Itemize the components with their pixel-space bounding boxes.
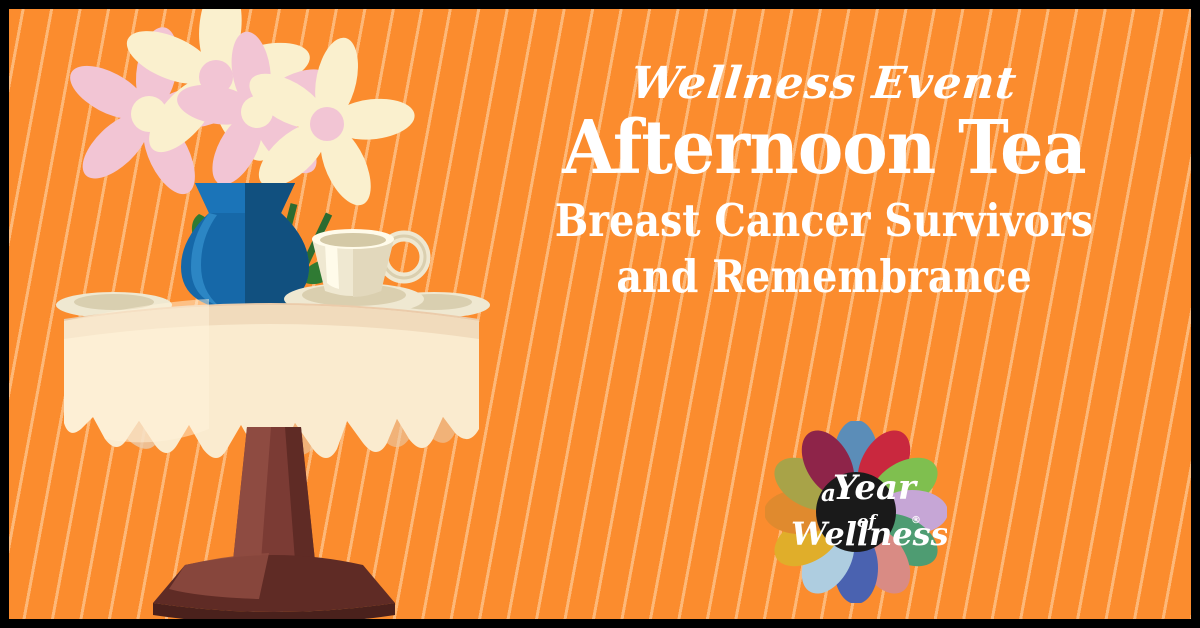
afternoon-tea-illustration <box>9 9 529 628</box>
logo-word-wellness: Wellness <box>791 515 947 553</box>
a-year-of-wellness-logo[interactable]: a Year of Wellness ® <box>765 421 947 603</box>
table-base <box>153 553 395 624</box>
event-banner: Wellness Event Afternoon Tea Breast Canc… <box>0 0 1200 628</box>
logo-petals <box>765 421 947 603</box>
logo-trademark: ® <box>911 515 921 526</box>
table-pedestal-leg <box>233 427 315 561</box>
logo-word-year: Year <box>833 468 918 508</box>
eyebrow-wellness-event: Wellness Event <box>477 61 1172 107</box>
subtitle-line-1: Breast Cancer Survivors <box>520 193 1127 249</box>
subtitle-line-2: and Remembrance <box>520 249 1127 305</box>
blue-vase <box>181 183 309 311</box>
page-title: Afternoon Tea <box>507 111 1142 185</box>
banner-text-block: Wellness Event Afternoon Tea Breast Canc… <box>479 61 1169 306</box>
